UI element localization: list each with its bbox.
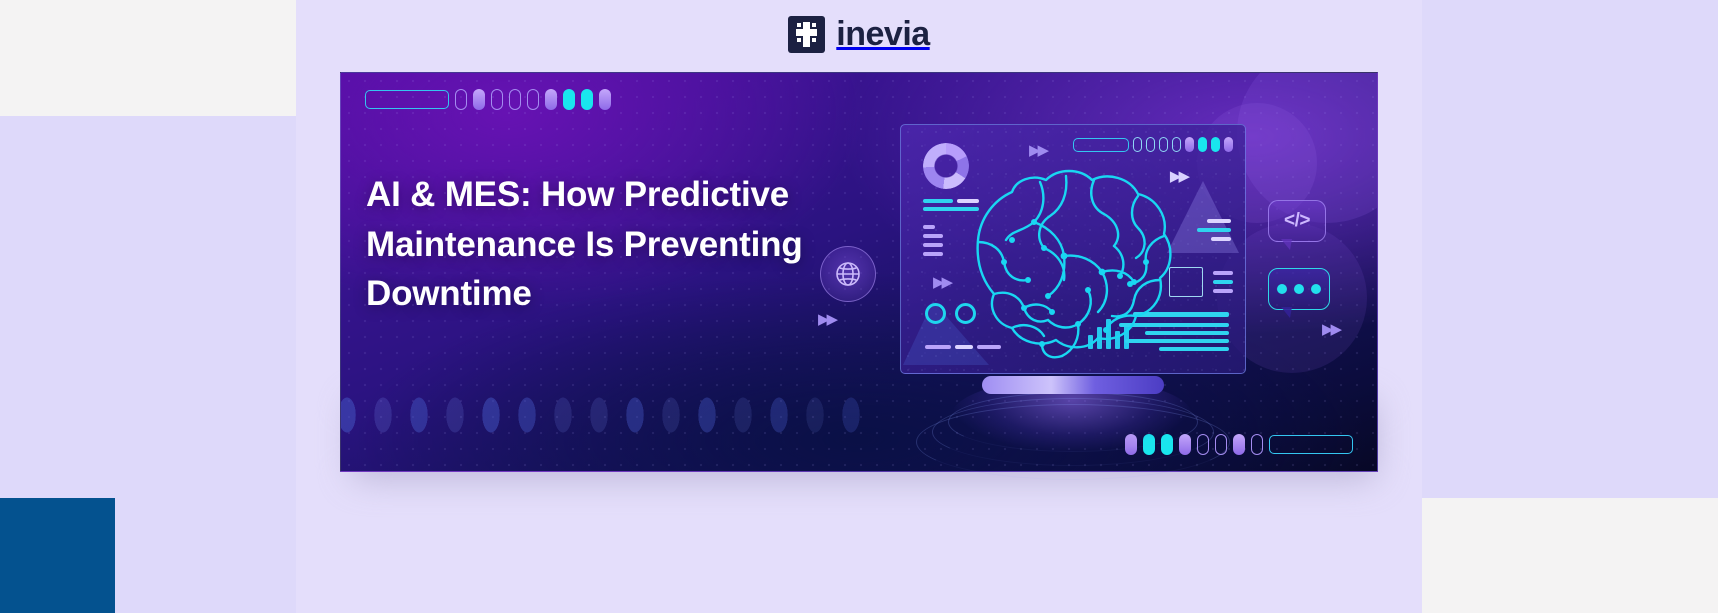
site-logo-wordmark: inevia (836, 17, 929, 51)
chat-speech-bubble-icon[interactable] (1268, 268, 1330, 310)
chat-dot (1294, 284, 1304, 294)
hud-progress-bar (365, 90, 449, 109)
site-header: inevia (0, 0, 1718, 68)
hud-pill (563, 89, 575, 110)
hud-pill (581, 89, 593, 110)
hud-pill (455, 89, 467, 110)
monitor-stand (982, 376, 1164, 394)
hud-pill (491, 89, 503, 110)
base-ring (916, 404, 1230, 480)
chat-dot (1277, 284, 1287, 294)
background-block-bottom-left (0, 498, 115, 613)
decorative-ellipse-field (340, 371, 951, 472)
fast-forward-icon: ▶▶ (1322, 320, 1339, 338)
background-block-bottom-right (1422, 498, 1718, 613)
hud-pill (545, 89, 557, 110)
hud-progress-bar (1269, 435, 1353, 454)
banner-title: AI & MES: How Predictive Maintenance Is … (366, 170, 866, 319)
globe-badge[interactable] (820, 246, 876, 302)
chat-dot (1311, 284, 1321, 294)
hud-strip-top-left (365, 89, 611, 110)
hud-pill (509, 89, 521, 110)
code-speech-bubble-icon[interactable]: </> (1268, 200, 1326, 242)
hud-pill (527, 89, 539, 110)
site-logo-link[interactable]: inevia (788, 16, 929, 53)
inevia-pixel-cross-logo-icon (788, 16, 825, 53)
hud-pill (1233, 434, 1245, 455)
neural-brain-outline-icon (916, 130, 1228, 368)
fast-forward-icon: ▶▶ (818, 310, 835, 328)
globe-icon (833, 259, 863, 289)
hud-pill (599, 89, 611, 110)
hud-pill (473, 89, 485, 110)
code-glyph: </> (1284, 210, 1310, 232)
hud-pill (1251, 434, 1263, 455)
